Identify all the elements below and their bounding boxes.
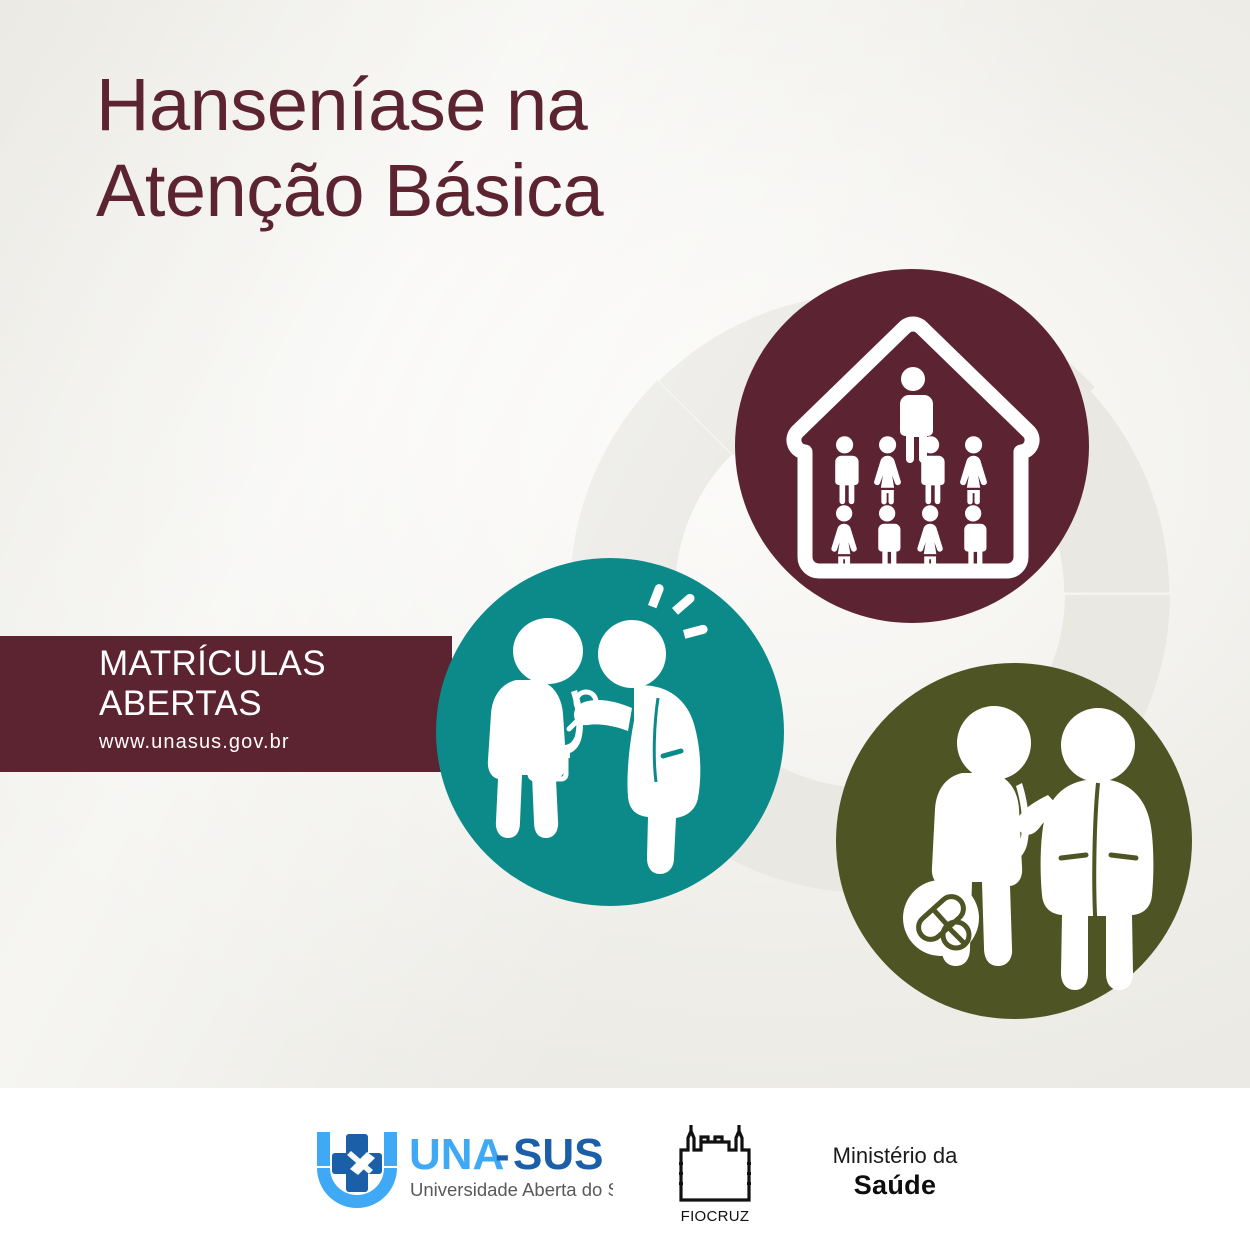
skin-examination-icon bbox=[436, 558, 784, 906]
unasus-word-dash: - bbox=[495, 1130, 510, 1179]
house-with-family-icon bbox=[735, 269, 1089, 623]
circle-household bbox=[735, 269, 1089, 623]
banner-headline-line2: ABERTAS bbox=[99, 684, 326, 724]
unasus-tagline: Universidade Aberta do SUS bbox=[410, 1179, 613, 1200]
fiocruz-label: FIOCRUZ bbox=[668, 1208, 762, 1225]
patient-and-health-worker-with-pill-icon bbox=[836, 663, 1192, 1019]
unasus-word-sus: SUS bbox=[513, 1130, 603, 1179]
ministerio-da-saude-logo[interactable]: Ministério da Saúde bbox=[800, 1142, 990, 1208]
ministerio-line2: Saúde bbox=[800, 1170, 990, 1201]
banner-website-url[interactable]: www.unasus.gov.br bbox=[99, 731, 326, 754]
ministerio-line1: Ministério da bbox=[800, 1142, 990, 1170]
poster-canvas: Hanseníase na Atenção Básica MATRÍCULAS … bbox=[0, 0, 1250, 1250]
page-title: Hanseníase na Atenção Básica bbox=[96, 62, 603, 234]
unasus-word-una: UNA bbox=[409, 1130, 504, 1179]
enrollment-banner-text: MATRÍCULAS ABERTAS www.unasus.gov.br bbox=[99, 644, 326, 754]
circle-treatment bbox=[836, 663, 1192, 1019]
unasus-logo-icon bbox=[317, 1132, 397, 1208]
banner-headline-line1: MATRÍCULAS bbox=[99, 644, 326, 684]
circle-diagnosis bbox=[436, 558, 784, 906]
enrollment-banner: MATRÍCULAS ABERTAS www.unasus.gov.br bbox=[0, 636, 452, 772]
unasus-wordmark: UNA - SUS Universidade Aberta do SUS bbox=[409, 1130, 613, 1200]
fiocruz-logo[interactable]: FIOCRUZ bbox=[668, 1120, 762, 1230]
fiocruz-castle-icon bbox=[668, 1120, 762, 1206]
footer-band bbox=[0, 1088, 1250, 1250]
unasus-logo[interactable]: UNA - SUS Universidade Aberta do SUS bbox=[313, 1124, 613, 1210]
